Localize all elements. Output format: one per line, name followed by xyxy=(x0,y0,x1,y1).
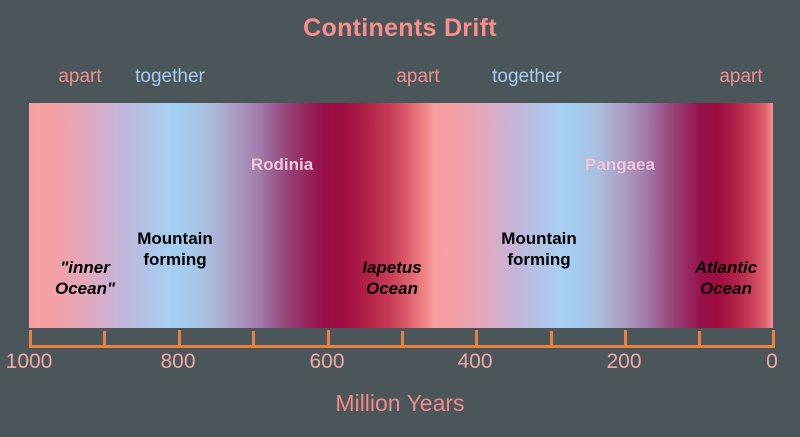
phase-label-row: aparttogetheraparttogetherapart xyxy=(0,66,800,94)
page-title: Continents Drift xyxy=(0,14,800,43)
feature-label-iapetus-ocean: Iapetus Ocean xyxy=(362,258,422,299)
feature-label-atlantic-ocean: Atlantic Ocean xyxy=(695,258,757,299)
axis-tick-800 xyxy=(178,330,181,348)
phase-label-apart: apart xyxy=(58,66,101,88)
era-label-rodinia: Rodinia xyxy=(251,155,313,175)
axis-tick-200 xyxy=(624,330,627,348)
axis-tick-400 xyxy=(475,330,478,348)
phase-label-apart: apart xyxy=(719,66,762,88)
axis-tick-100 xyxy=(698,331,701,348)
axis-tick-label-1000: 1000 xyxy=(6,350,53,374)
axis-tick-700 xyxy=(252,331,255,348)
continents-drift-infographic: Continents Drift aparttogetheraparttoget… xyxy=(0,0,800,437)
axis-tick-300 xyxy=(550,331,553,348)
axis-tick-1000 xyxy=(29,330,32,348)
phase-label-together: together xyxy=(135,66,205,88)
feature-label-inner-ocean: "inner Ocean" xyxy=(55,258,115,299)
axis-tick-label-800: 800 xyxy=(160,350,195,374)
phase-label-apart: apart xyxy=(396,66,439,88)
axis-tick-label-200: 200 xyxy=(606,350,641,374)
axis-tick-0 xyxy=(772,330,775,348)
axis-tick-label-0: 0 xyxy=(766,350,778,374)
axis-tick-label-600: 600 xyxy=(309,350,344,374)
timeline-band: RodiniaPangaea"inner Ocean"Mountain form… xyxy=(29,103,773,328)
feature-label-mountain-forming: Mountain forming xyxy=(501,229,577,270)
axis-title: Million Years xyxy=(0,390,800,417)
feature-label-mountain-forming: Mountain forming xyxy=(137,229,213,270)
axis-tick-900 xyxy=(103,331,106,348)
axis-tick-600 xyxy=(327,330,330,348)
axis-tick-label-400: 400 xyxy=(457,350,492,374)
era-label-pangaea: Pangaea xyxy=(585,155,655,175)
axis-tick-500 xyxy=(401,331,404,348)
phase-label-together: together xyxy=(492,66,562,88)
time-axis: 10008006004002000 xyxy=(0,328,800,376)
